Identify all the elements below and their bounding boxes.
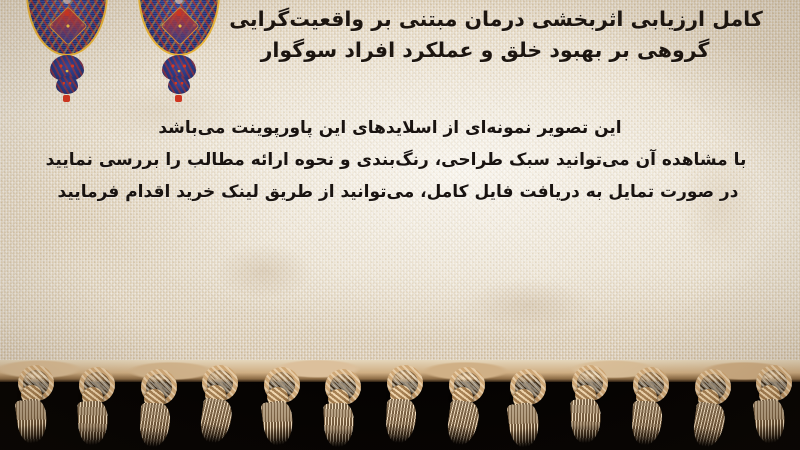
tassel-skirt xyxy=(324,402,356,447)
tassel-skirt xyxy=(199,397,234,445)
tassel-skirt xyxy=(506,401,541,449)
tassel xyxy=(75,367,109,445)
tassel xyxy=(137,369,171,447)
tassel-skirt xyxy=(570,398,602,443)
tassel xyxy=(383,365,417,443)
slide-title: کامل ارزیابی اثربخشی درمان مبتنی بر واقع… xyxy=(216,4,776,66)
tassel-skirt xyxy=(752,397,787,445)
slide-body-line-1: این تصویر نمونه‌ای از اسلایدهای این پاور… xyxy=(8,112,772,144)
tassel-skirt xyxy=(631,400,663,445)
fringe-zone xyxy=(0,360,800,450)
tassel-skirt xyxy=(139,402,171,447)
tassel-skirt xyxy=(77,400,109,445)
tassel-skirt xyxy=(260,399,295,447)
tassel xyxy=(321,369,355,447)
tassel-skirt xyxy=(385,398,417,443)
slide-body: این تصویر نمونه‌ای از اسلایدهای این پاور… xyxy=(8,112,790,208)
slide-canvas: کامل ارزیابی اثربخشی درمان مبتنی بر واقع… xyxy=(0,0,800,450)
tassel-skirt xyxy=(14,397,49,445)
slide-body-line-3: در صورت تمایل به دریافت فایل کامل، می‌تو… xyxy=(8,176,788,208)
tassel xyxy=(260,367,294,445)
tassel xyxy=(568,365,602,443)
tassel xyxy=(14,365,48,443)
tassel xyxy=(752,365,786,443)
slide-title-line-2: گروهی بر بهبود خلق و عملکرد افراد سوگوار xyxy=(216,35,776,66)
tassel xyxy=(629,367,663,445)
text-layer: کامل ارزیابی اثربخشی درمان مبتنی بر واقع… xyxy=(0,0,800,372)
tassel xyxy=(198,365,232,443)
slide-body-line-2: با مشاهده آن می‌توانید سبک طراحی، رنگ‌بن… xyxy=(8,144,784,176)
tassel-skirt xyxy=(445,399,480,447)
slide-title-line-1: کامل ارزیابی اثربخشی درمان مبتنی بر واقع… xyxy=(216,4,776,35)
tassel xyxy=(445,367,479,445)
tassel xyxy=(691,369,725,447)
tassel xyxy=(506,369,540,447)
tassel-skirt xyxy=(691,401,726,449)
